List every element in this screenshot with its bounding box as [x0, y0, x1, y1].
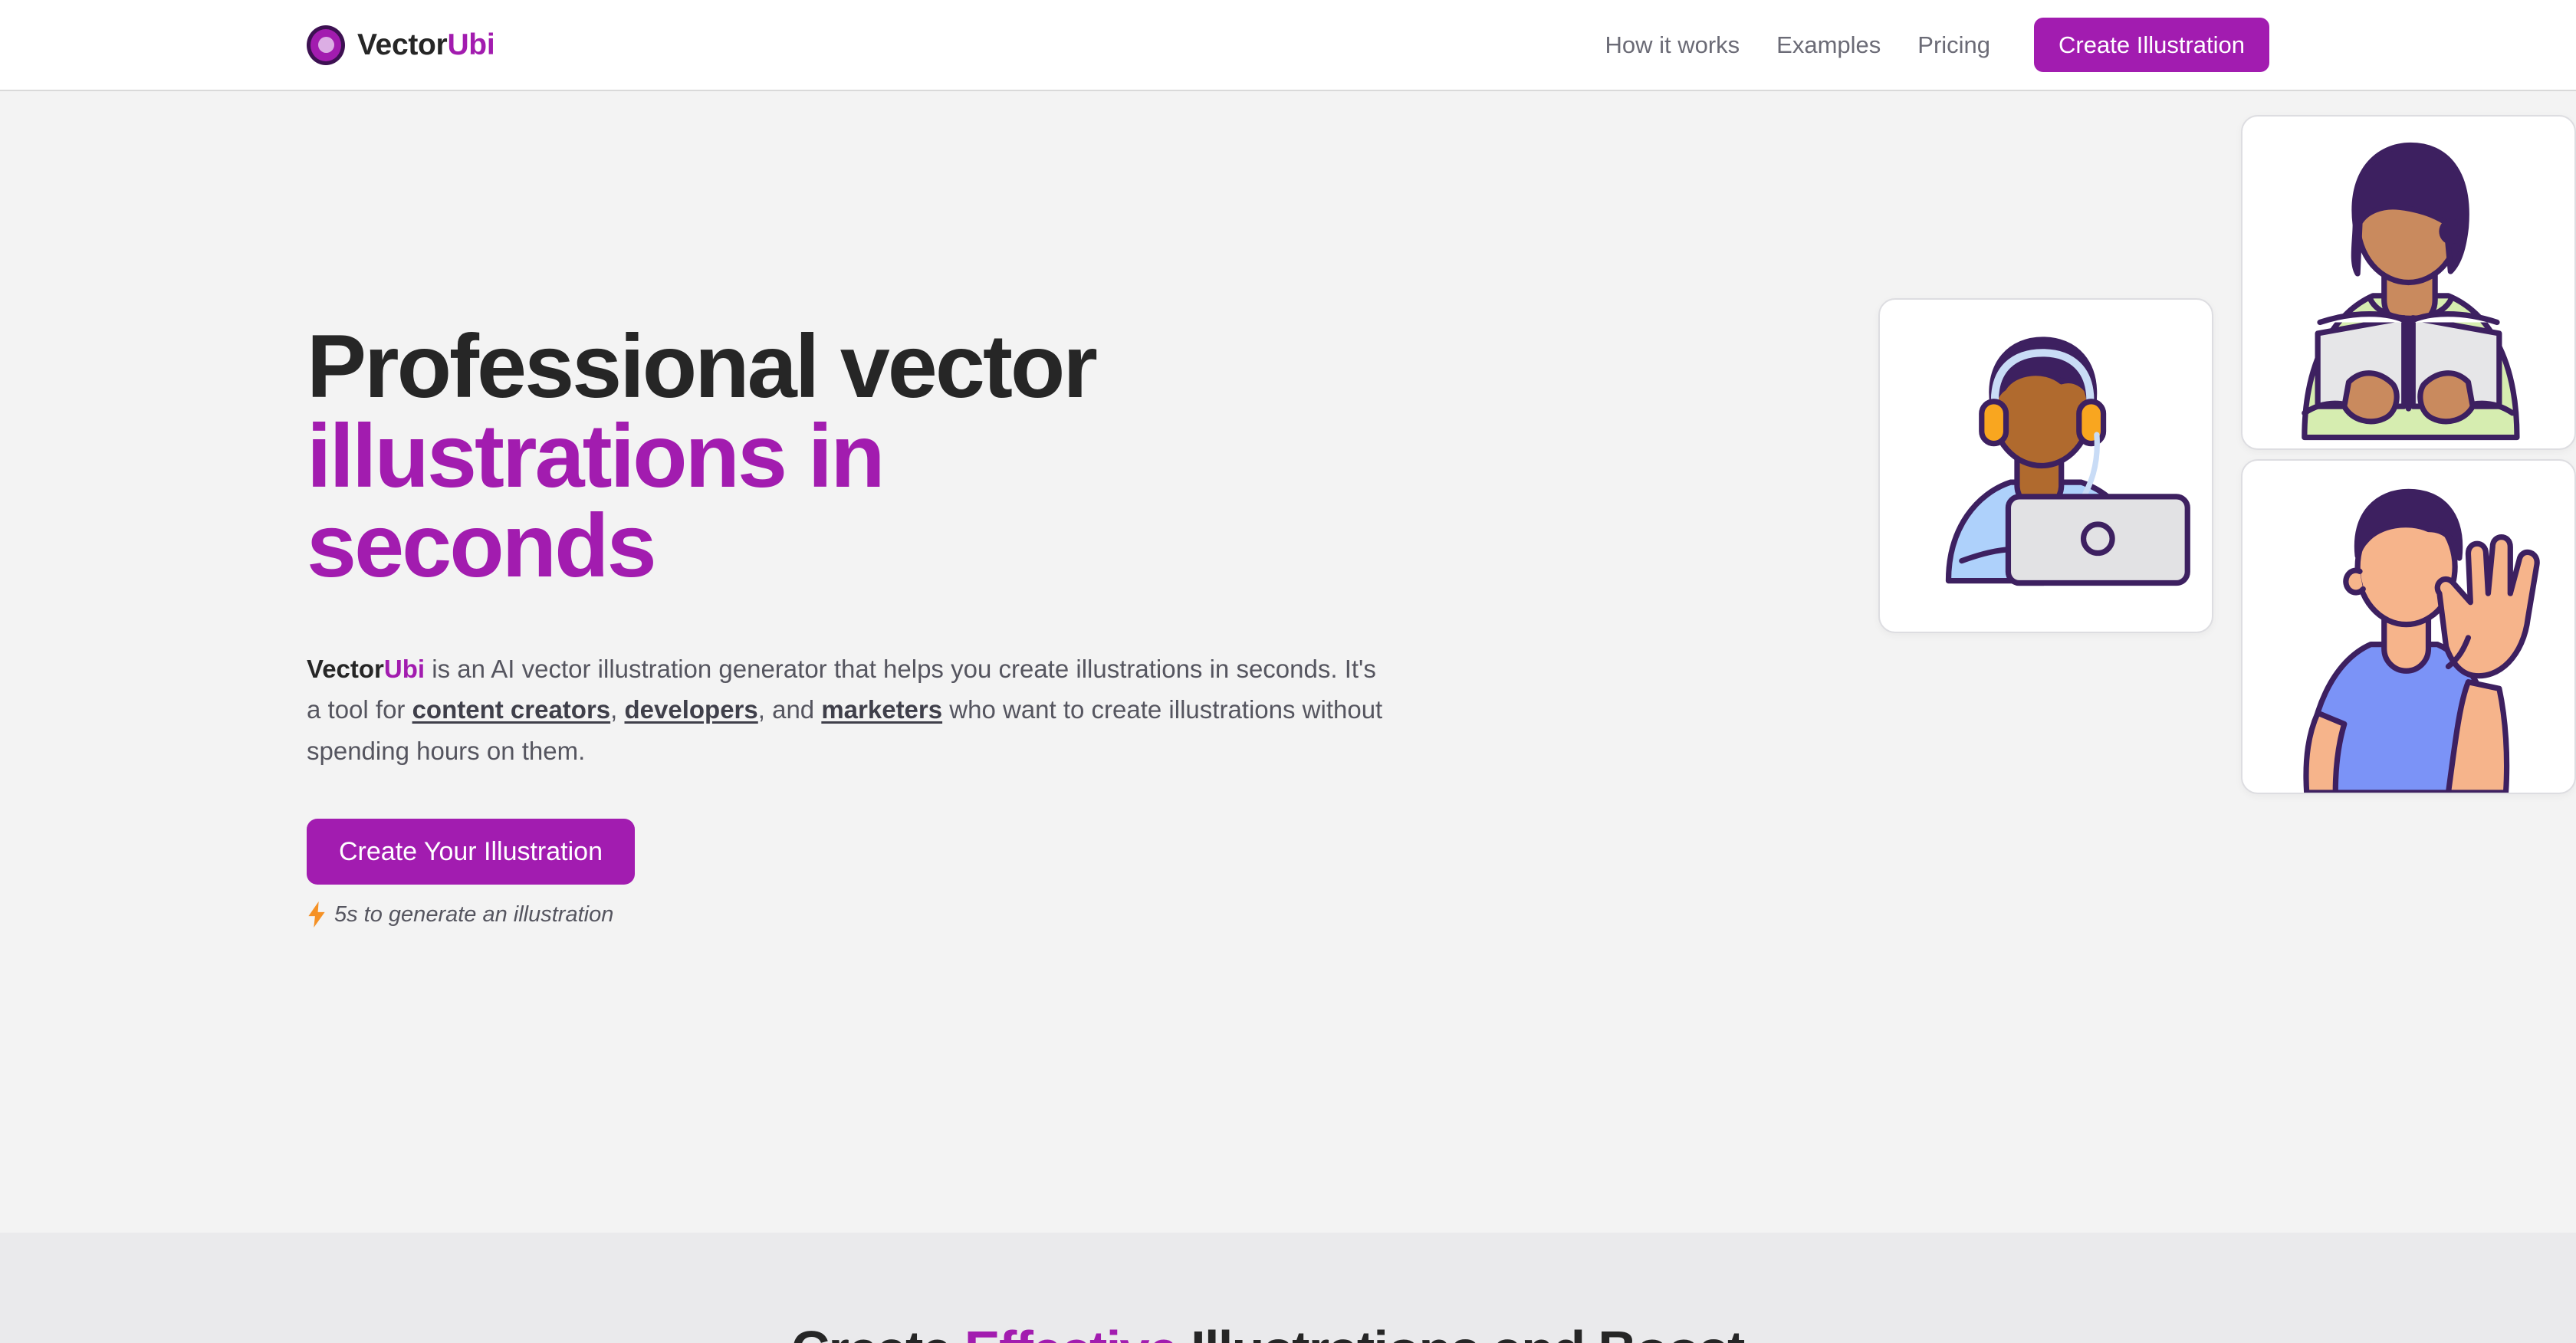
- illustration-card-laptop[interactable]: [1878, 298, 2213, 633]
- nav-link-examples[interactable]: Examples: [1758, 33, 1899, 57]
- laptop-person-illustration: [1880, 300, 2212, 632]
- hero-paragraph: VectorUbi is an AI vector illustration g…: [307, 649, 1388, 771]
- paragraph-brand-part1: Vector: [307, 655, 384, 683]
- hero-copy: Professional vector illustrations in sec…: [307, 91, 1395, 1233]
- header-navigation: How it works Examples Pricing Create Ill…: [1586, 18, 2269, 72]
- next-title-part2: Illustrations and Boost...: [1177, 1320, 1785, 1343]
- brand-name-part2: Ubi: [447, 28, 495, 61]
- brand-name-part1: Vector: [357, 28, 447, 61]
- reading-person-illustration: [2242, 117, 2574, 448]
- brand-logo-link[interactable]: VectorUbi: [307, 25, 495, 65]
- hero-create-your-illustration-button[interactable]: Create Your Illustration: [307, 819, 635, 885]
- paragraph-link-marketers[interactable]: marketers: [821, 695, 942, 724]
- next-title-part1: Create: [791, 1320, 964, 1343]
- next-section-title: Create Effective Illustrations and Boost…: [0, 1323, 2576, 1343]
- paragraph-link-content-creators[interactable]: content creators: [412, 695, 611, 724]
- hero-speed-note-text: 5s to generate an illustration: [334, 902, 613, 928]
- lightning-bolt-icon: [307, 901, 327, 928]
- paragraph-link-developers[interactable]: developers: [625, 695, 758, 724]
- hero-headline: Professional vector illustrations in sec…: [307, 321, 1395, 590]
- header-create-illustration-button[interactable]: Create Illustration: [2034, 18, 2269, 72]
- hero-headline-line2: illustrations in: [307, 406, 883, 506]
- hero-headline-line1: Professional vector: [307, 316, 1096, 416]
- hero-section: Professional vector illustrations in sec…: [0, 91, 2576, 1233]
- next-section: Create Effective Illustrations and Boost…: [0, 1233, 2576, 1343]
- illustration-card-waving[interactable]: [2241, 459, 2576, 794]
- paragraph-brand-part2: Ubi: [384, 655, 425, 683]
- paragraph-segment-2: ,: [610, 695, 624, 724]
- waving-person-illustration: [2242, 461, 2574, 793]
- brand-name: VectorUbi: [357, 30, 495, 60]
- next-title-accent: Effective: [964, 1320, 1177, 1343]
- nav-link-how-it-works[interactable]: How it works: [1586, 33, 1758, 57]
- paragraph-segment-3: , and: [758, 695, 822, 724]
- illustration-card-reading[interactable]: [2241, 115, 2576, 450]
- hero-illustration-group: [1572, 91, 2415, 1233]
- nav-link-pricing[interactable]: Pricing: [1899, 33, 2009, 57]
- hero-headline-line3: seconds: [307, 495, 655, 596]
- paragraph-brand: VectorUbi: [307, 655, 425, 683]
- site-header: VectorUbi How it works Examples Pricing …: [0, 0, 2576, 91]
- circle-logo-icon: [307, 25, 345, 65]
- hero-speed-note: 5s to generate an illustration: [307, 901, 1395, 928]
- logo-inner-dot: [318, 37, 334, 53]
